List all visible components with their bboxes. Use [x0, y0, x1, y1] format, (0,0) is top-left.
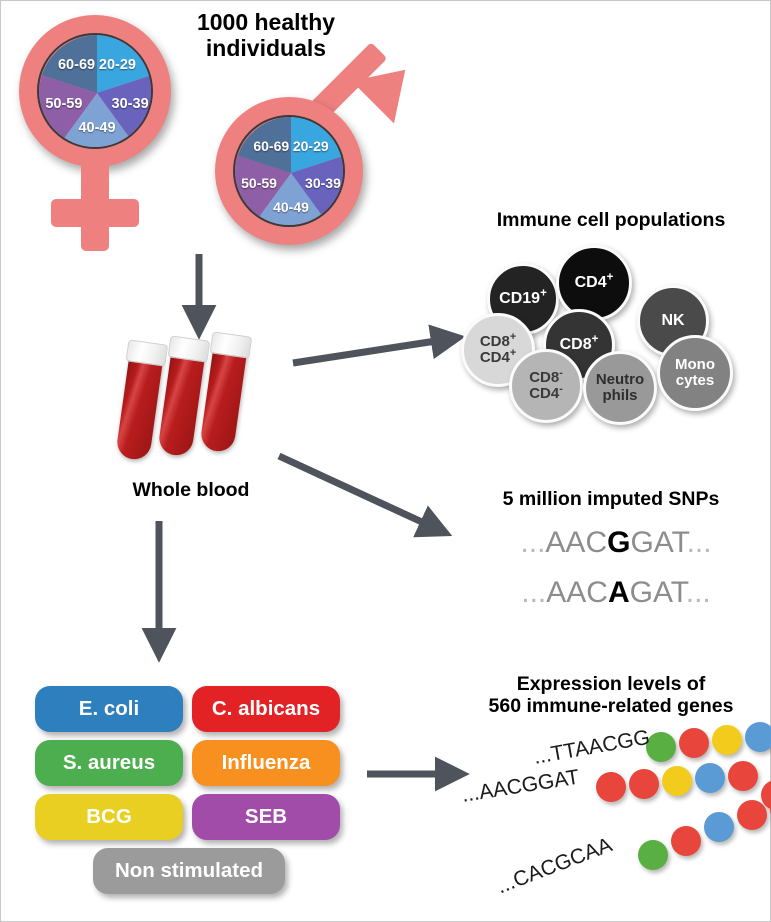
snp-variant-base: A	[608, 576, 630, 609]
snp-sequence-row: ...AACAGAT...	[471, 576, 761, 610]
snp-right-bases: GAT	[630, 526, 686, 559]
stimulation-seb[interactable]: SEB	[192, 794, 340, 840]
dna-bead	[662, 766, 692, 796]
expression-title: Expression levels of 560 immune-related …	[453, 673, 769, 718]
dna-bead	[638, 840, 668, 870]
immune-cell-label: CD8+CD4+	[480, 334, 516, 366]
dna-bead	[695, 763, 725, 793]
snp-suffix-ellipsis: ...	[686, 576, 711, 609]
snp-sequence-row: ...AACGGAT...	[471, 526, 761, 560]
immune-cell-label: Neutrophils	[596, 372, 644, 404]
blood-tubes-group	[109, 331, 269, 466]
immune-cell-populations-title: Immune cell populations	[456, 209, 766, 231]
immune-cell-bubbles-group: CD19+CD4+NKCD8+CD4+CD8+CD8-CD4-Neutrophi…	[461, 241, 761, 426]
stimulation-e-coli[interactable]: E. coli	[35, 686, 183, 732]
snp-title: 5 million imputed SNPs	[456, 488, 766, 510]
dna-sequence-text: ...TTAACGG	[532, 726, 652, 770]
immune-cell-cd8-cd4: CD8-CD4-	[509, 349, 583, 423]
immune-cell-label: CD8-CD4-	[529, 370, 563, 402]
snp-prefix-ellipsis: ...	[521, 576, 546, 609]
stimulation-non-stimulated[interactable]: Non stimulated	[93, 848, 285, 894]
dna-bead	[712, 725, 742, 755]
dna-bead	[629, 769, 659, 799]
tube-blood-fill	[115, 354, 163, 462]
immune-cell-label: CD19+	[499, 291, 547, 308]
dna-sequence-text: ...AACGGAT	[460, 766, 581, 808]
stimulation-influenza[interactable]: Influenza	[192, 740, 340, 786]
stimulation-bcg[interactable]: BCG	[35, 794, 183, 840]
snp-suffix-ellipsis: ...	[687, 526, 712, 559]
snp-variant-base: G	[607, 526, 630, 559]
whole-blood-label: Whole blood	[91, 479, 291, 502]
stimulation-conditions-group: E. coliC. albicansS. aureusInfluenzaBCGS…	[35, 686, 345, 881]
immune-cell-cd4: CD4+	[556, 245, 632, 321]
dna-bead	[728, 761, 758, 791]
dna-bead	[596, 772, 626, 802]
dna-bead	[671, 826, 701, 856]
dna-sequence-text: ...CACGCAA	[494, 833, 616, 899]
immune-cell-mono-cytes: Monocytes	[657, 335, 733, 411]
tube-blood-fill	[199, 346, 247, 454]
immune-cell-label: NK	[661, 313, 684, 330]
snp-sequence-group: ...AACGGAT......AACAGAT...	[471, 526, 761, 626]
stimulation-s-aureus[interactable]: S. aureus	[35, 740, 183, 786]
immune-cell-label: Monocytes	[675, 357, 715, 389]
snp-left-bases: AAC	[546, 576, 608, 609]
dna-bead	[704, 812, 734, 842]
arrow-blood-to-snps	[279, 456, 437, 529]
immune-cell-label: CD4+	[575, 275, 614, 292]
snp-left-bases: AAC	[545, 526, 607, 559]
figure-canvas: 1000 healthy individuals 20-2930-3940-49…	[0, 0, 771, 922]
stimulation-c-albicans[interactable]: C. albicans	[192, 686, 340, 732]
tube-blood-fill	[157, 350, 205, 458]
dna-strands-group: ...TTAACGG...AACGGAT...CACGCAA	[456, 726, 771, 916]
immune-cell-label: CD8+	[560, 337, 599, 354]
dna-bead	[745, 722, 771, 752]
snp-prefix-ellipsis: ...	[520, 526, 545, 559]
arrow-blood-to-cells	[293, 339, 449, 363]
dna-bead	[679, 728, 709, 758]
immune-cell-neutro-phils: Neutrophils	[583, 351, 657, 425]
snp-right-bases: GAT	[630, 576, 686, 609]
dna-bead	[737, 800, 767, 830]
